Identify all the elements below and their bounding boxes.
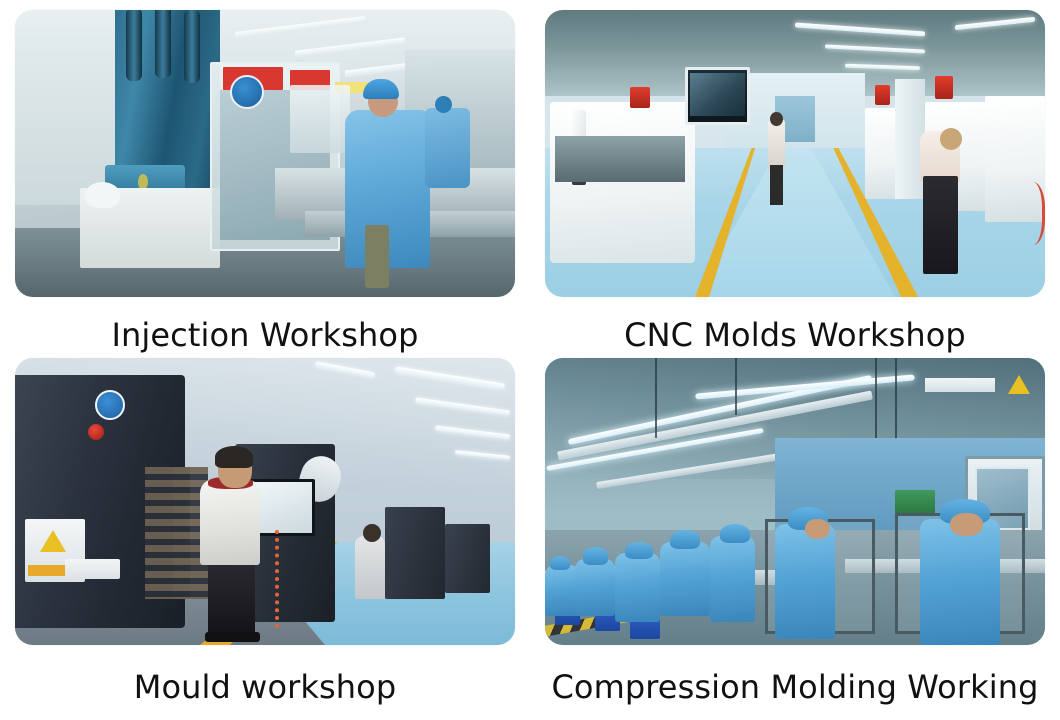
second-worker-body bbox=[425, 108, 470, 188]
worker-cap bbox=[363, 79, 399, 99]
hanging-wire-1 bbox=[655, 358, 657, 438]
cnc-machine-far-2 bbox=[445, 524, 490, 593]
machine-red-head-2 bbox=[875, 85, 890, 105]
background-worker-legs bbox=[770, 165, 783, 205]
worker-4-cap bbox=[670, 530, 700, 549]
photo-collage: Injection Workshop bbox=[0, 0, 1060, 720]
hazard-triangle-icon bbox=[40, 530, 66, 552]
worker-pants bbox=[208, 559, 256, 636]
foreground-worker-legs bbox=[923, 176, 958, 274]
orange-coiled-hose bbox=[275, 530, 295, 628]
white-container bbox=[85, 182, 120, 208]
second-worker-head bbox=[435, 96, 452, 113]
background-worker-body bbox=[768, 119, 786, 171]
collage-cell-cnc-molds-workshop[interactable]: CNC Molds Workshop bbox=[530, 0, 1060, 355]
worker-4-body bbox=[660, 542, 710, 617]
mould-workshop-scene bbox=[15, 358, 515, 645]
foreground-worker-head bbox=[940, 128, 962, 150]
worker-2-cap bbox=[583, 547, 608, 564]
worker-5-cap bbox=[720, 524, 750, 543]
compression-molding-scene bbox=[545, 358, 1045, 645]
blue-certification-badge bbox=[95, 390, 125, 420]
photo-compression-molding-working[interactable] bbox=[545, 358, 1045, 645]
collage-cell-mould-workshop[interactable]: Mould workshop bbox=[0, 355, 530, 720]
machine-red-head-4 bbox=[935, 76, 953, 99]
material-cart bbox=[290, 85, 350, 154]
worker-6-body bbox=[775, 524, 835, 639]
photo-cnc-molds-workshop[interactable] bbox=[545, 10, 1045, 297]
machine-red-head-1 bbox=[630, 87, 650, 107]
edm-work-tank bbox=[555, 136, 685, 182]
cnc-monitor-screen bbox=[690, 73, 745, 116]
injection-workshop-scene bbox=[15, 10, 515, 297]
caption-compression-molding: Compression Molding Working bbox=[551, 671, 1038, 703]
worker-2-body bbox=[575, 559, 615, 616]
worker-7-face bbox=[950, 513, 983, 536]
worker-hair bbox=[215, 446, 253, 468]
cnc-molds-workshop-scene bbox=[545, 10, 1045, 297]
green-notice-board bbox=[895, 490, 935, 513]
injection-press-column bbox=[115, 10, 220, 188]
press-rod-2 bbox=[155, 10, 171, 78]
press-rod-1 bbox=[126, 10, 142, 81]
hazard-triangle-icon bbox=[1008, 375, 1030, 394]
press-rod-3 bbox=[184, 10, 200, 83]
worker-6-face bbox=[805, 519, 830, 539]
worker-shoes bbox=[205, 632, 260, 642]
emergency-stop-button bbox=[88, 424, 104, 440]
caption-mould-workshop: Mould workshop bbox=[134, 671, 397, 703]
worker-shirt bbox=[200, 479, 260, 565]
machine-nameplate bbox=[65, 559, 120, 579]
red-cable bbox=[1015, 182, 1045, 245]
worker-legs bbox=[365, 225, 389, 288]
photo-injection-workshop[interactable] bbox=[15, 10, 515, 297]
worker-5-body bbox=[710, 536, 755, 622]
background-worker-body bbox=[355, 536, 385, 599]
worker-1-cap bbox=[550, 556, 570, 570]
collage-cell-compression-molding[interactable]: Compression Molding Working bbox=[530, 355, 1060, 720]
caption-injection-workshop: Injection Workshop bbox=[111, 319, 418, 351]
photo-mould-workshop[interactable] bbox=[15, 358, 515, 645]
cnc-machine-far-1 bbox=[385, 507, 445, 599]
background-worker-head bbox=[363, 524, 381, 542]
blue-certification-badge bbox=[230, 75, 264, 109]
worker-3-cap bbox=[625, 542, 653, 559]
collage-cell-injection-workshop[interactable]: Injection Workshop bbox=[0, 0, 530, 355]
wall-sign bbox=[925, 378, 995, 392]
worker-3-body bbox=[615, 553, 660, 622]
edm-machine-foreground bbox=[550, 102, 695, 263]
hanging-wire-2 bbox=[735, 358, 737, 415]
worker-7-body bbox=[920, 519, 1000, 645]
caption-cnc-molds-workshop: CNC Molds Workshop bbox=[624, 319, 966, 351]
